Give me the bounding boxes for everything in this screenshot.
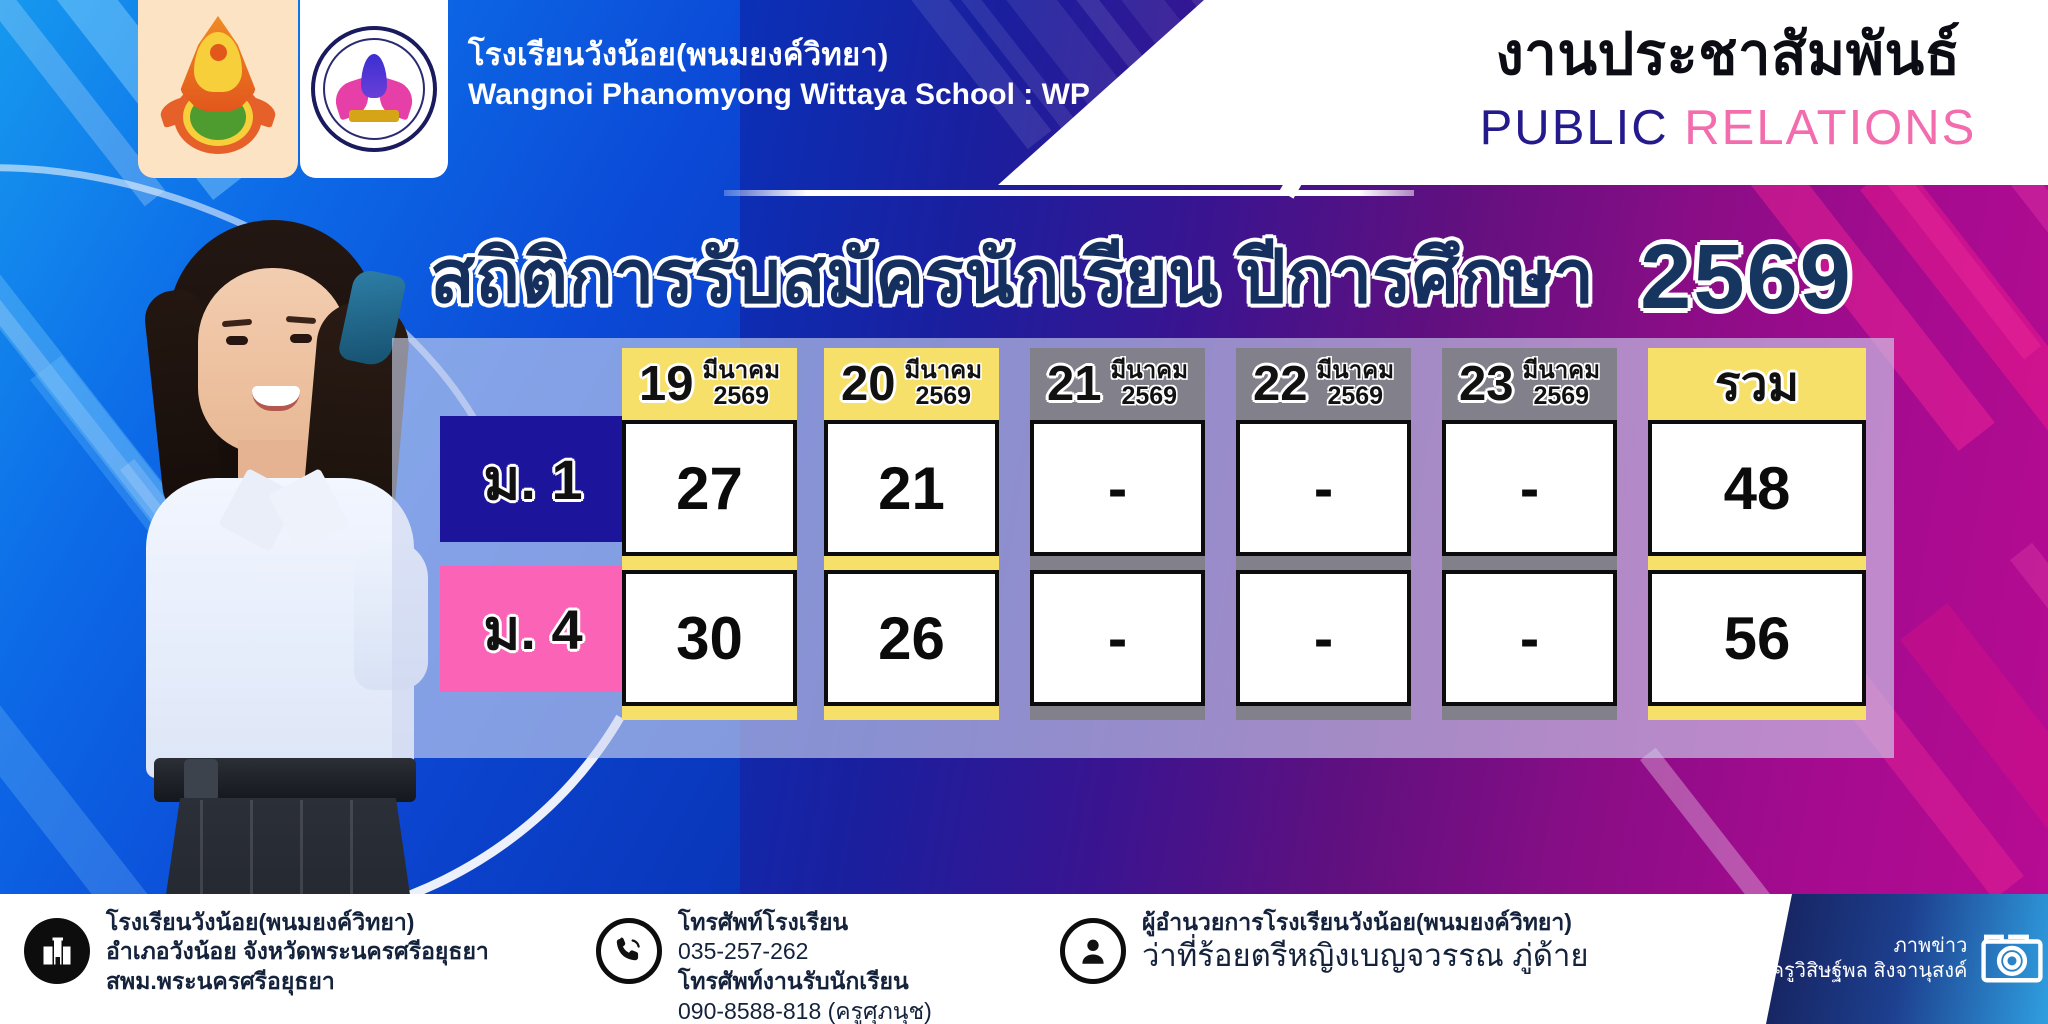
footer-director-block: ผู้อำนวยการโรงเรียนวังน้อย(พนมยงค์วิทยา)…: [1060, 908, 1589, 984]
page-title: สถิติการรับสมัครนักเรียน ปีการศึกษา 2569: [430, 222, 2030, 332]
header-day: 21: [1047, 360, 1102, 409]
footer-phone-label-2: โทรศัพท์งานรับนักเรียน: [678, 967, 932, 996]
footer-school-line1: โรงเรียนวังน้อย(พนมยงค์วิทยา): [106, 908, 489, 937]
column-header-19: 19 มีนาคม 2569: [622, 348, 797, 420]
credit-name: ครูวิสิษฐ์พล สิงจานุสงค์: [1771, 959, 1968, 984]
camera-icon: [1981, 931, 2043, 988]
header-month: มีนาคม: [904, 359, 982, 384]
header-year: 2569: [1121, 383, 1177, 409]
column-footer: [1030, 706, 1205, 720]
student-photo: [110, 210, 440, 882]
table-cell: 48: [1648, 420, 1866, 556]
building-icon: [24, 918, 90, 984]
footer: โรงเรียนวังน้อย(พนมยงค์วิทยา) อำเภอวังน้…: [0, 894, 2048, 1024]
column-header-22: 22 มีนาคม 2569: [1236, 348, 1411, 420]
row-label-m1: ม. 1: [440, 416, 626, 542]
row-divider: [1236, 556, 1411, 570]
header-month: มีนาคม: [1522, 359, 1600, 384]
table-cell: 26: [824, 570, 999, 706]
ministry-of-education-emblem: [138, 0, 298, 178]
pr-word-relations: RELATIONS: [1684, 101, 1976, 155]
person-icon: [1060, 918, 1126, 984]
header-day: 20: [841, 360, 896, 409]
column-header-23: 23 มีนาคม 2569: [1442, 348, 1617, 420]
footer-school-line2: อำเภอวังน้อย จังหวัดพระนครศรีอยุธยา: [106, 937, 489, 966]
poster-canvas: โรงเรียนวังน้อย(พนมยงค์วิทยา) Wangnoi Ph…: [0, 0, 2048, 1024]
header-month: มีนาคม: [1316, 359, 1394, 384]
footer-phone-label-1: โทรศัพท์โรงเรียน: [678, 908, 932, 937]
table-column-total: รวม 48 56: [1648, 348, 1866, 748]
table-column-20: 20 มีนาคม 2569 21 26: [824, 348, 999, 748]
pr-word-public: PUBLIC: [1480, 101, 1669, 155]
column-footer: [1442, 706, 1617, 720]
phone-icon: [596, 918, 662, 984]
footer-director-label: ผู้อำนวยการโรงเรียนวังน้อย(พนมยงค์วิทยา): [1142, 908, 1589, 937]
header-year: 2569: [1327, 383, 1383, 409]
table-cell: -: [1442, 570, 1617, 706]
row-divider: [1442, 556, 1617, 570]
header-month: มีนาคม: [1110, 359, 1188, 384]
page-title-text: สถิติการรับสมัครนักเรียน ปีการศึกษา: [430, 240, 1594, 314]
page-title-year: 2569: [1640, 231, 1853, 323]
header-divider-rule: [724, 190, 1414, 196]
footer-director-name: ว่าที่ร้อยตรีหญิงเบญจวรรณ ภู่ด้าย: [1142, 937, 1589, 974]
school-name-block: โรงเรียนวังน้อย(พนมยงค์วิทยา) Wangnoi Ph…: [468, 38, 1090, 112]
table-column-22: 22 มีนาคม 2569 - -: [1236, 348, 1411, 748]
header-day: 19: [639, 360, 694, 409]
row-label-m4: ม. 4: [440, 566, 626, 692]
table-cell: -: [1236, 420, 1411, 556]
table-cell: -: [1030, 420, 1205, 556]
column-footer: [622, 706, 797, 720]
table-cell: -: [1030, 570, 1205, 706]
column-footer: [1648, 706, 1866, 720]
column-footer: [824, 706, 999, 720]
header: โรงเรียนวังน้อย(พนมยงค์วิทยา) Wangnoi Ph…: [0, 0, 2048, 185]
header-month: มีนาคม: [702, 359, 780, 384]
header-year: 2569: [1533, 383, 1589, 409]
table-cell: 27: [622, 420, 797, 556]
table-cell: -: [1442, 420, 1617, 556]
pr-title-english: PUBLIC RELATIONS: [1418, 104, 2038, 153]
table-cell: -: [1236, 570, 1411, 706]
column-header-21: 21 มีนาคม 2569: [1030, 348, 1205, 420]
header-day: 23: [1459, 360, 1514, 409]
footer-phone-number-1: 035-257-262: [678, 937, 932, 967]
row-divider: [1648, 556, 1866, 570]
table-column-21: 21 มีนาคม 2569 - -: [1030, 348, 1205, 748]
footer-school-line3: สพม.พระนครศรีอยุธยา: [106, 967, 489, 996]
table-cell: 30: [622, 570, 797, 706]
header-year: 2569: [713, 383, 769, 409]
header-day: 22: [1253, 360, 1308, 409]
footer-phone-number-2: 090-8588-818 (ครูศุภนุช): [678, 997, 932, 1024]
row-divider: [824, 556, 999, 570]
row-divider: [622, 556, 797, 570]
footer-phone-block: โทรศัพท์โรงเรียน 035-257-262 โทรศัพท์งาน…: [596, 908, 932, 1024]
footer-school-block: โรงเรียนวังน้อย(พนมยงค์วิทยา) อำเภอวังน้…: [24, 908, 489, 996]
table-column-19: 19 มีนาคม 2569 27 30: [622, 348, 797, 748]
statistics-table: ม. 1 ม. 4 19 มีนาคม 2569 27 30 20 มีนาคม: [392, 338, 1894, 758]
header-year: 2569: [915, 383, 971, 409]
column-header-total: รวม: [1648, 348, 1866, 420]
school-name-thai: โรงเรียนวังน้อย(พนมยงค์วิทยา): [468, 38, 1090, 73]
credit-label: ภาพข่าว: [1771, 934, 1968, 959]
school-name-english: Wangnoi Phanomyong Wittaya School : WP: [468, 78, 1090, 113]
column-header-20: 20 มีนาคม 2569: [824, 348, 999, 420]
table-cell: 21: [824, 420, 999, 556]
table-column-23: 23 มีนาคม 2569 - -: [1442, 348, 1617, 748]
table-cell: 56: [1648, 570, 1866, 706]
pr-title-thai: งานประชาสัมพันธ์: [1418, 26, 2038, 84]
school-seal: [300, 0, 448, 178]
column-footer: [1236, 706, 1411, 720]
row-divider: [1030, 556, 1205, 570]
footer-credit-block: ภาพข่าว ครูวิสิษฐ์พล สิงจานุสงค์: [1766, 894, 2048, 1024]
